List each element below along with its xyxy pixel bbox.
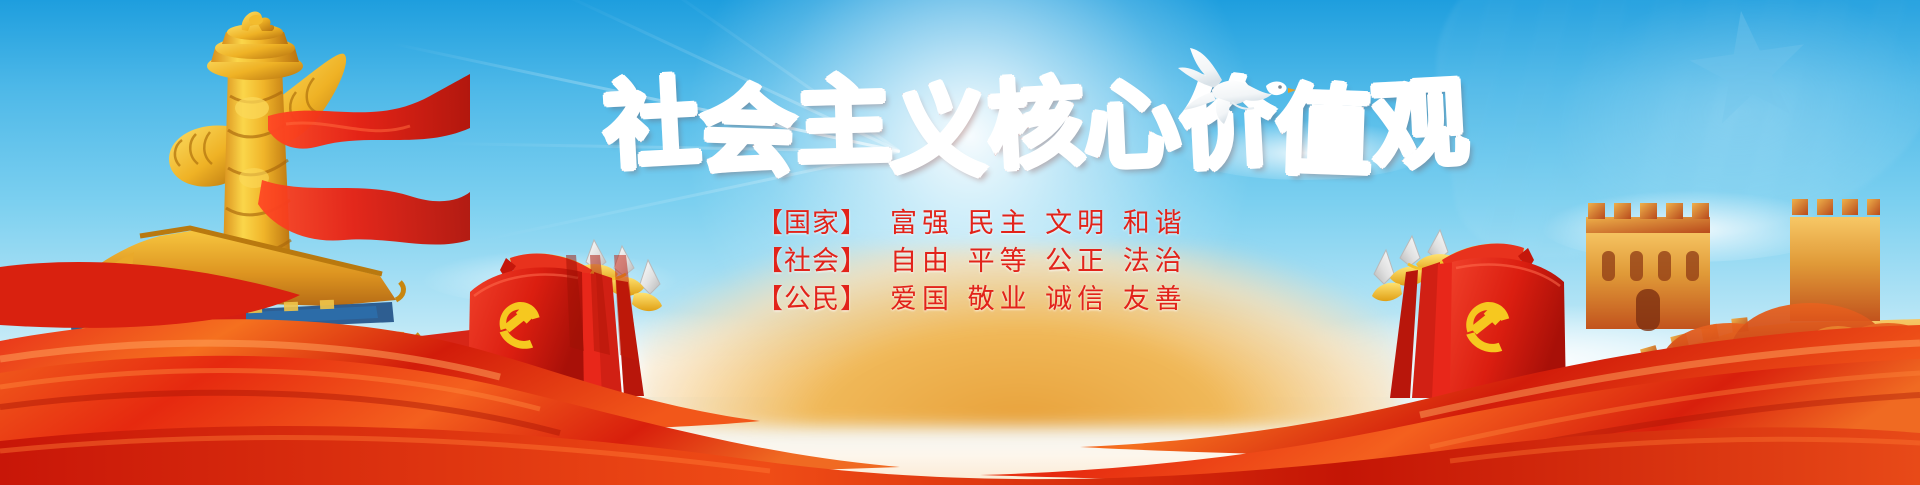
peace-dove-icon [1172, 46, 1298, 124]
light-ray [440, 142, 900, 153]
flag-star-icon [1682, 2, 1818, 138]
title-char-6: 价 [1177, 75, 1278, 176]
title-char-2: 主 [795, 73, 893, 171]
socialist-core-values-banner: 中华人民共和国 [0, 0, 1920, 485]
tiananmen-scene: 中华人民共和国 [0, 0, 470, 430]
light-ray [479, 150, 900, 242]
value-words-citizen: 爱国 敬业 诚信 友善 [890, 286, 1187, 313]
light-ray [653, 0, 900, 153]
title-char-5: 心 [1082, 76, 1182, 176]
great-wall [1490, 177, 1920, 427]
light-ray [391, 42, 900, 153]
cloud [1540, 190, 1840, 262]
value-category-country: 【国家】 [756, 210, 868, 237]
cloud [420, 250, 680, 305]
value-words-society: 自由 平等 公正 法治 [890, 248, 1187, 275]
cloud-band [0, 167, 1920, 397]
hammer-sickle-icon [1466, 302, 1509, 352]
title-char-7: 值 [1274, 82, 1373, 181]
title-char-0: 社 [601, 75, 702, 176]
title-char-4: 核 [985, 75, 1086, 176]
core-values-list: 【国家】 富强 民主 文明 和谐 【社会】 自由 平等 公正 法治 【公民】 爱… [756, 210, 1226, 324]
page-title: 社 会 主 义 核 心 价 值 观 [604, 68, 1344, 188]
national-flag-watermark [1375, 0, 1920, 317]
value-category-society: 【社会】 [756, 248, 868, 275]
value-line-society: 【社会】 自由 平等 公正 法治 [756, 248, 1226, 275]
title-char-3: 义 [890, 82, 989, 181]
light-ray [555, 0, 901, 153]
svg-text:中华人民共和国: 中华人民共和国 [182, 411, 277, 430]
value-line-citizen: 【公民】 爱国 敬业 诚信 友善 [756, 286, 1226, 313]
title-char-8: 观 [1369, 75, 1470, 176]
title-char-1: 会 [698, 82, 797, 181]
golden-hill [640, 247, 1400, 427]
flag-wave-texture [1419, 0, 1920, 272]
value-category-citizen: 【公民】 [756, 286, 868, 313]
value-words-country: 富强 民主 文明 和谐 [890, 210, 1187, 237]
red-silk-waves [0, 255, 1920, 485]
cloud [1180, 120, 1430, 180]
value-line-country: 【国家】 富强 民主 文明 和谐 [756, 210, 1226, 237]
party-flag-right [1338, 226, 1568, 398]
sun-glow [690, 0, 1250, 320]
party-flag-left [466, 236, 696, 396]
